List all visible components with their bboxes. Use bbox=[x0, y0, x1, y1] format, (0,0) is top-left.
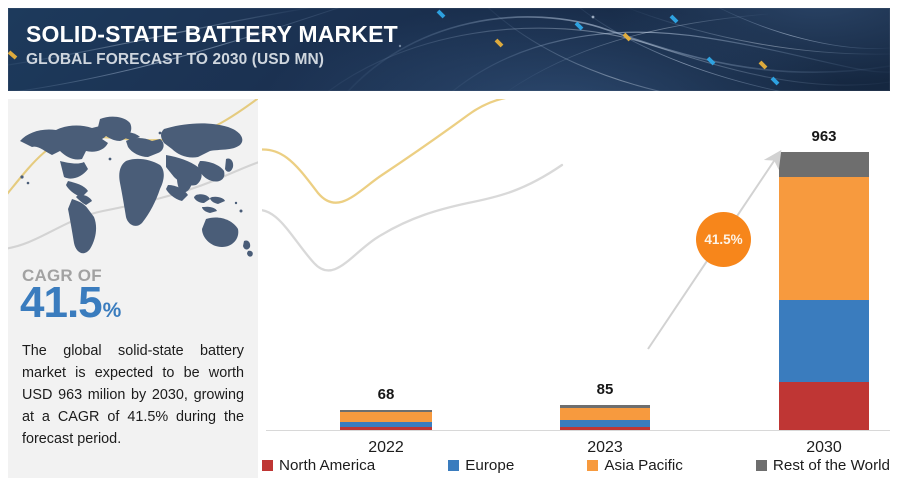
legend-label: Europe bbox=[465, 457, 514, 474]
bar-container: 6820228520239632030 bbox=[262, 99, 894, 484]
legend-swatch-icon bbox=[756, 460, 767, 471]
header-banner: SOLID-STATE BATTERY MARKET GLOBAL FORECA… bbox=[8, 8, 890, 91]
stacked-bar[interactable] bbox=[340, 410, 432, 430]
legend-swatch-icon bbox=[262, 460, 273, 471]
legend-item-rest-of-the-world[interactable]: Rest of the World bbox=[756, 457, 890, 474]
cagr-percent-sign: % bbox=[103, 299, 122, 323]
bar-value-label: 963 bbox=[811, 128, 836, 145]
page-title: SOLID-STATE BATTERY MARKET bbox=[26, 22, 398, 47]
bar-value-label: 68 bbox=[378, 386, 395, 403]
world-map-icon bbox=[8, 99, 258, 264]
x-axis-label-2030: 2030 bbox=[806, 439, 842, 457]
bar-segment-north-america[interactable] bbox=[340, 427, 432, 430]
bar-segment-europe[interactable] bbox=[779, 300, 869, 382]
bar-segment-north-america[interactable] bbox=[560, 427, 650, 430]
bar-segment-asia-pacific[interactable] bbox=[560, 408, 650, 420]
cagr-bubble-badge: 41.5% bbox=[696, 212, 751, 267]
bar-group-2023[interactable]: 852023 bbox=[560, 405, 650, 430]
bar-value-label: 85 bbox=[597, 381, 614, 398]
stacked-bar-chart: 41.5% 6820228520239632030 bbox=[262, 99, 894, 484]
cagr-value: 41.5 bbox=[20, 281, 102, 325]
chart-legend: North AmericaEuropeAsia PacificRest of t… bbox=[262, 457, 894, 474]
legend-item-north-america[interactable]: North America bbox=[262, 457, 375, 474]
legend-swatch-icon bbox=[448, 460, 459, 471]
bar-group-2030[interactable]: 9632030 bbox=[779, 152, 869, 430]
bar-segment-north-america[interactable] bbox=[779, 382, 869, 430]
bar-segment-asia-pacific[interactable] bbox=[779, 177, 869, 300]
legend-item-europe[interactable]: Europe bbox=[448, 457, 514, 474]
header-title-block: SOLID-STATE BATTERY MARKET GLOBAL FORECA… bbox=[26, 22, 398, 69]
bar-segment-asia-pacific[interactable] bbox=[340, 412, 432, 422]
summary-panel: CAGR OF 41.5 % The global solid-state ba… bbox=[8, 99, 258, 478]
legend-item-asia-pacific[interactable]: Asia Pacific bbox=[587, 457, 683, 474]
legend-swatch-icon bbox=[587, 460, 598, 471]
legend-label: Rest of the World bbox=[773, 457, 890, 474]
bar-group-2022[interactable]: 682022 bbox=[340, 410, 432, 430]
stacked-bar[interactable] bbox=[779, 152, 869, 430]
x-axis-label-2023: 2023 bbox=[587, 439, 623, 457]
world-map bbox=[8, 99, 258, 264]
stacked-bar[interactable] bbox=[560, 405, 650, 430]
x-axis-label-2022: 2022 bbox=[368, 439, 404, 457]
legend-label: Asia Pacific bbox=[604, 457, 683, 474]
legend-label: North America bbox=[279, 457, 375, 474]
bar-segment-europe[interactable] bbox=[560, 420, 650, 427]
cagr-value-row: 41.5 % bbox=[20, 281, 121, 325]
page-subtitle: GLOBAL FORECAST TO 2030 (USD MN) bbox=[26, 51, 398, 69]
bar-segment-rest-of-the-world[interactable] bbox=[779, 152, 869, 177]
summary-paragraph: The global solid-state battery market is… bbox=[22, 340, 244, 450]
